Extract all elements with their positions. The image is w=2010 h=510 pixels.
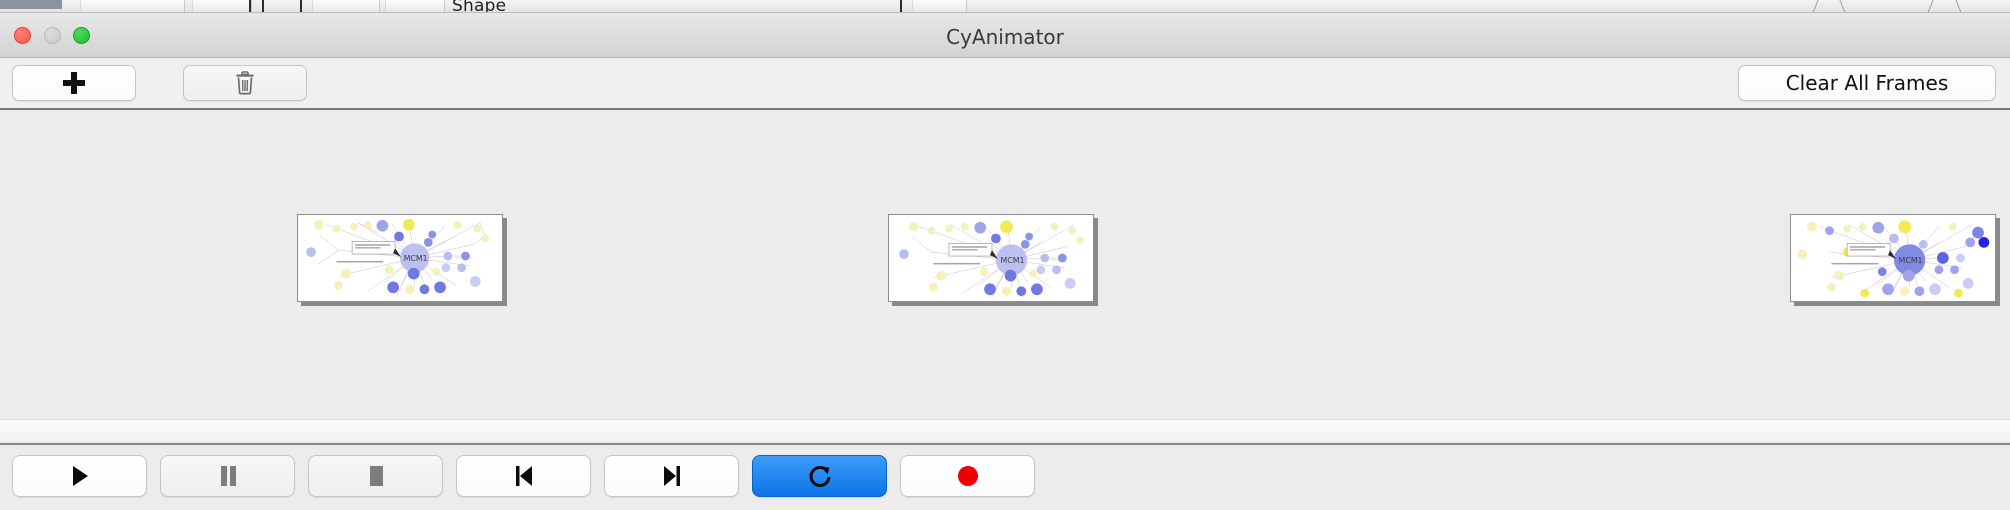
clear-all-frames-label: Clear All Frames [1786, 71, 1949, 95]
svg-text:MCM1: MCM1 [404, 254, 428, 263]
timeline-panel[interactable]: MCM1 [0, 110, 2010, 416]
network-thumbnail-graphic: MCM1 [298, 215, 502, 301]
record-button[interactable] [900, 455, 1035, 497]
trash-icon [234, 71, 256, 95]
stop-button[interactable] [308, 455, 443, 497]
background-edge-mark [1927, 0, 1933, 13]
play-button[interactable] [12, 455, 147, 497]
skip-next-icon [659, 463, 685, 489]
toolbar: Clear All Frames [0, 58, 2010, 108]
timeline-frame-thumbnail[interactable]: MCM1 [888, 214, 1094, 302]
svg-text:MCM1: MCM1 [1899, 256, 1923, 265]
svg-text:MCM1: MCM1 [1001, 256, 1025, 265]
record-icon [955, 463, 981, 489]
clear-all-frames-button[interactable]: Clear All Frames [1738, 65, 1996, 101]
playback-controls: Animation Speed: [0, 445, 2010, 510]
plus-icon [63, 72, 85, 94]
loop-icon [806, 462, 834, 490]
delete-frame-button[interactable] [183, 65, 307, 101]
cyanimator-window: Shape CyAnimator Clear Al [0, 0, 2010, 510]
title-bar[interactable]: CyAnimator [0, 13, 2010, 58]
background-edge-mark [1839, 0, 1845, 13]
timeline-frame-thumbnail[interactable]: MCM1 [297, 214, 503, 302]
play-icon [67, 463, 93, 489]
background-tick [249, 0, 251, 13]
background-toolbar-chip [192, 0, 252, 13]
background-toolbar-chip [80, 0, 185, 13]
background-window-strip: Shape [0, 0, 2010, 13]
pause-button[interactable] [160, 455, 295, 497]
background-tick [300, 0, 302, 13]
background-edge-mark [1812, 0, 1818, 13]
stop-icon [363, 463, 389, 489]
background-tick [262, 0, 264, 13]
network-thumbnail-graphic: MCM1 [889, 215, 1093, 301]
skip-to-start-button[interactable] [456, 455, 591, 497]
background-tick [900, 0, 902, 13]
background-window-titlebar-fragment [0, 0, 62, 9]
background-toolbar-chip [385, 0, 445, 13]
add-frame-button[interactable] [12, 65, 136, 101]
skip-to-end-button[interactable] [604, 455, 739, 497]
timeline-frame-thumbnail[interactable]: MCM1 [1790, 214, 1996, 302]
timeline-scrollbar-track[interactable] [0, 419, 2010, 441]
pause-icon [215, 463, 241, 489]
background-toolbar-chip [912, 0, 967, 13]
loop-button[interactable] [752, 455, 887, 497]
skip-previous-icon [511, 463, 537, 489]
network-thumbnail-graphic: MCM1 [1791, 215, 1995, 301]
window-title: CyAnimator [0, 25, 2010, 49]
background-edge-mark [1955, 0, 1961, 13]
background-toolbar-chip [312, 0, 380, 13]
background-window-label: Shape [452, 0, 506, 13]
